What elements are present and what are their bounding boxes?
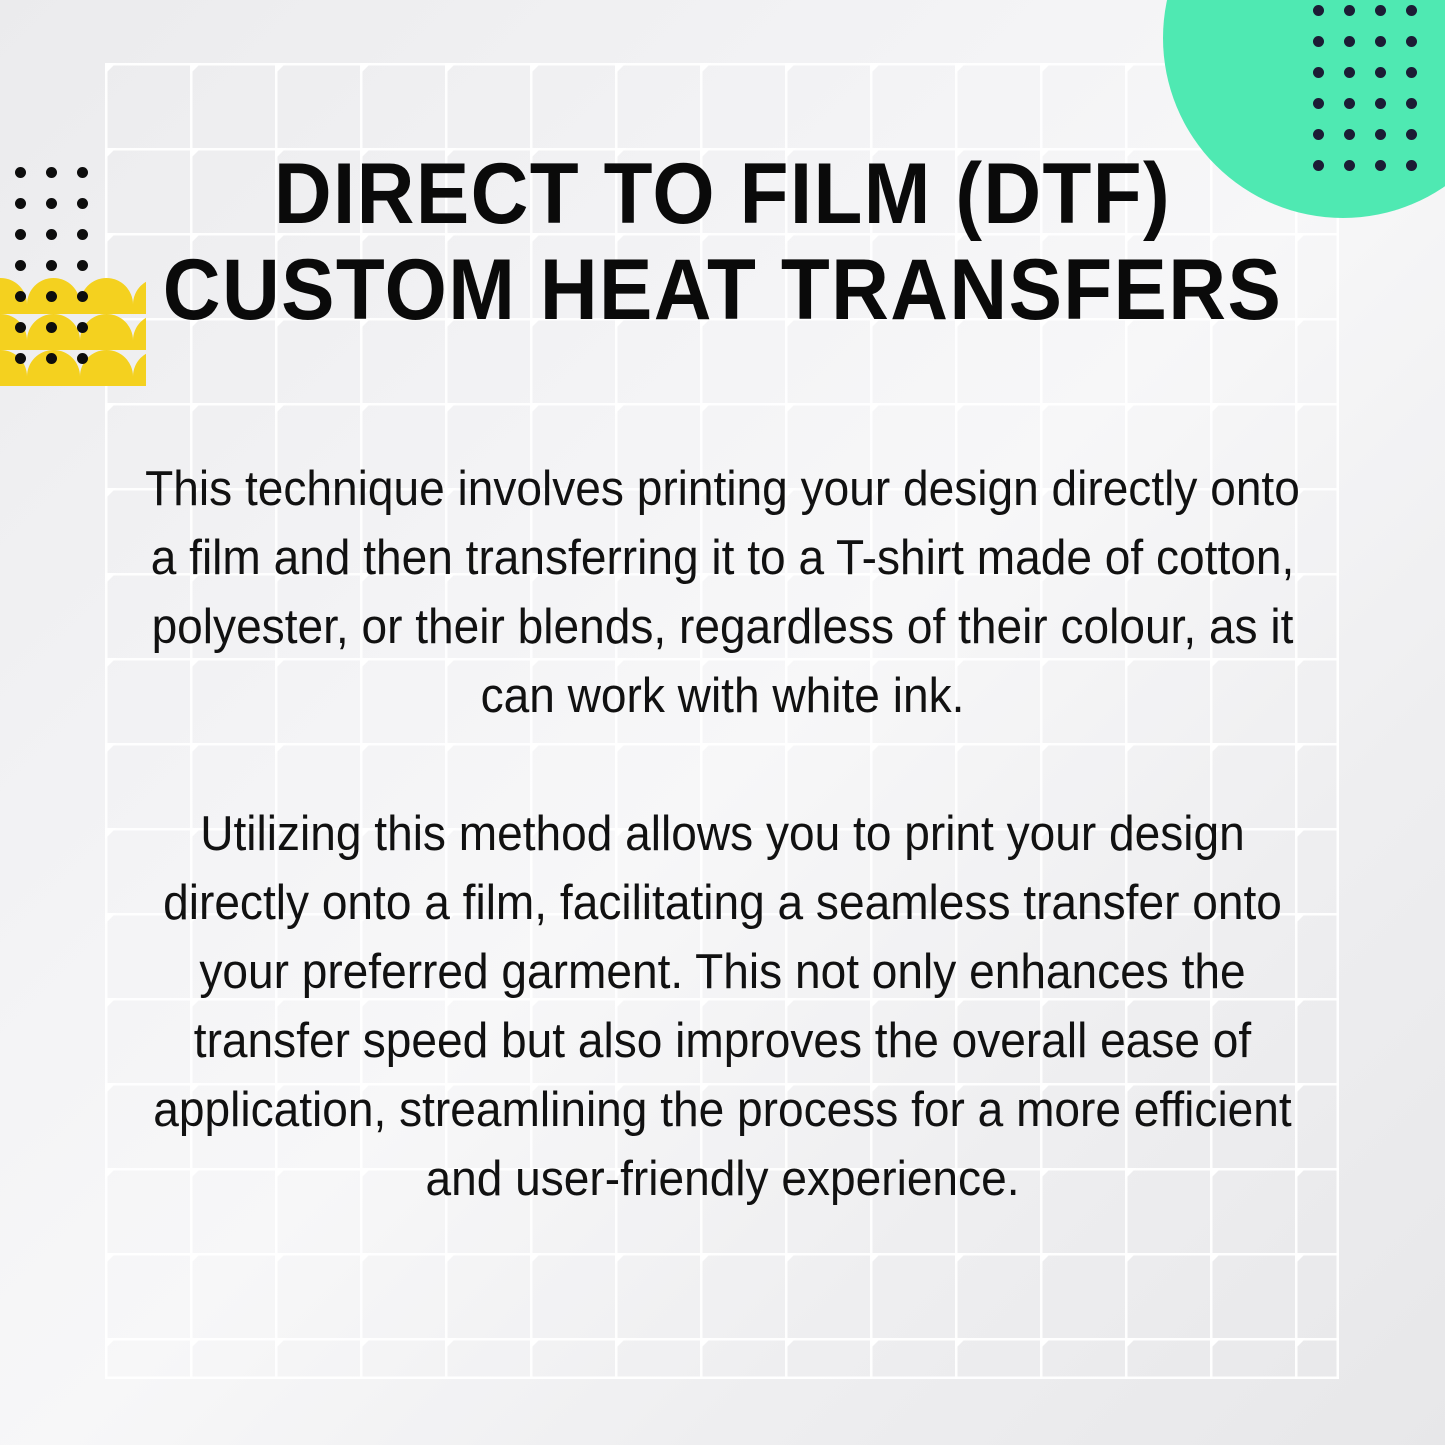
halfcircle-row	[0, 350, 146, 386]
page-title: DIRECT TO FILM (DTF) CUSTOM HEAT TRANSFE…	[0, 146, 1445, 338]
paragraph-1: This technique involves printing your de…	[134, 455, 1312, 731]
title-line-1: DIRECT TO FILM (DTF)	[51, 146, 1395, 242]
paragraph-2: Utilizing this method allows you to prin…	[134, 800, 1312, 1214]
halfcircle	[27, 350, 80, 386]
halfcircle	[0, 350, 27, 386]
body-copy: This technique involves printing your de…	[96, 455, 1349, 1214]
halfcircle	[133, 350, 146, 386]
halfcircle	[80, 350, 133, 386]
poster-canvas: DIRECT TO FILM (DTF) CUSTOM HEAT TRANSFE…	[0, 0, 1445, 1445]
title-line-2: CUSTOM HEAT TRANSFERS	[51, 242, 1395, 338]
